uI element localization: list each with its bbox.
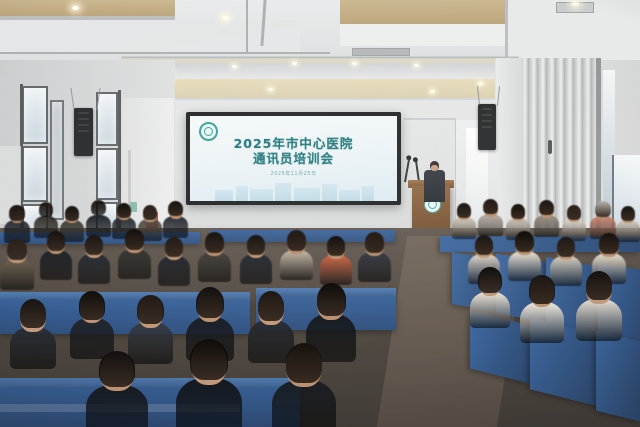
- audience-person: [176, 340, 242, 427]
- conference-photo: 2025年市中心医院 通讯员培训会 2025年11月25日: [0, 0, 640, 427]
- audience-person: [272, 344, 336, 427]
- audience-person: [86, 352, 148, 427]
- row-nearest: [0, 0, 640, 427]
- person-torso: [272, 380, 336, 427]
- person-hair: [190, 339, 228, 380]
- person-torso: [86, 385, 148, 427]
- person-torso: [176, 378, 242, 427]
- person-hair: [99, 351, 135, 387]
- person-hair: [286, 343, 323, 383]
